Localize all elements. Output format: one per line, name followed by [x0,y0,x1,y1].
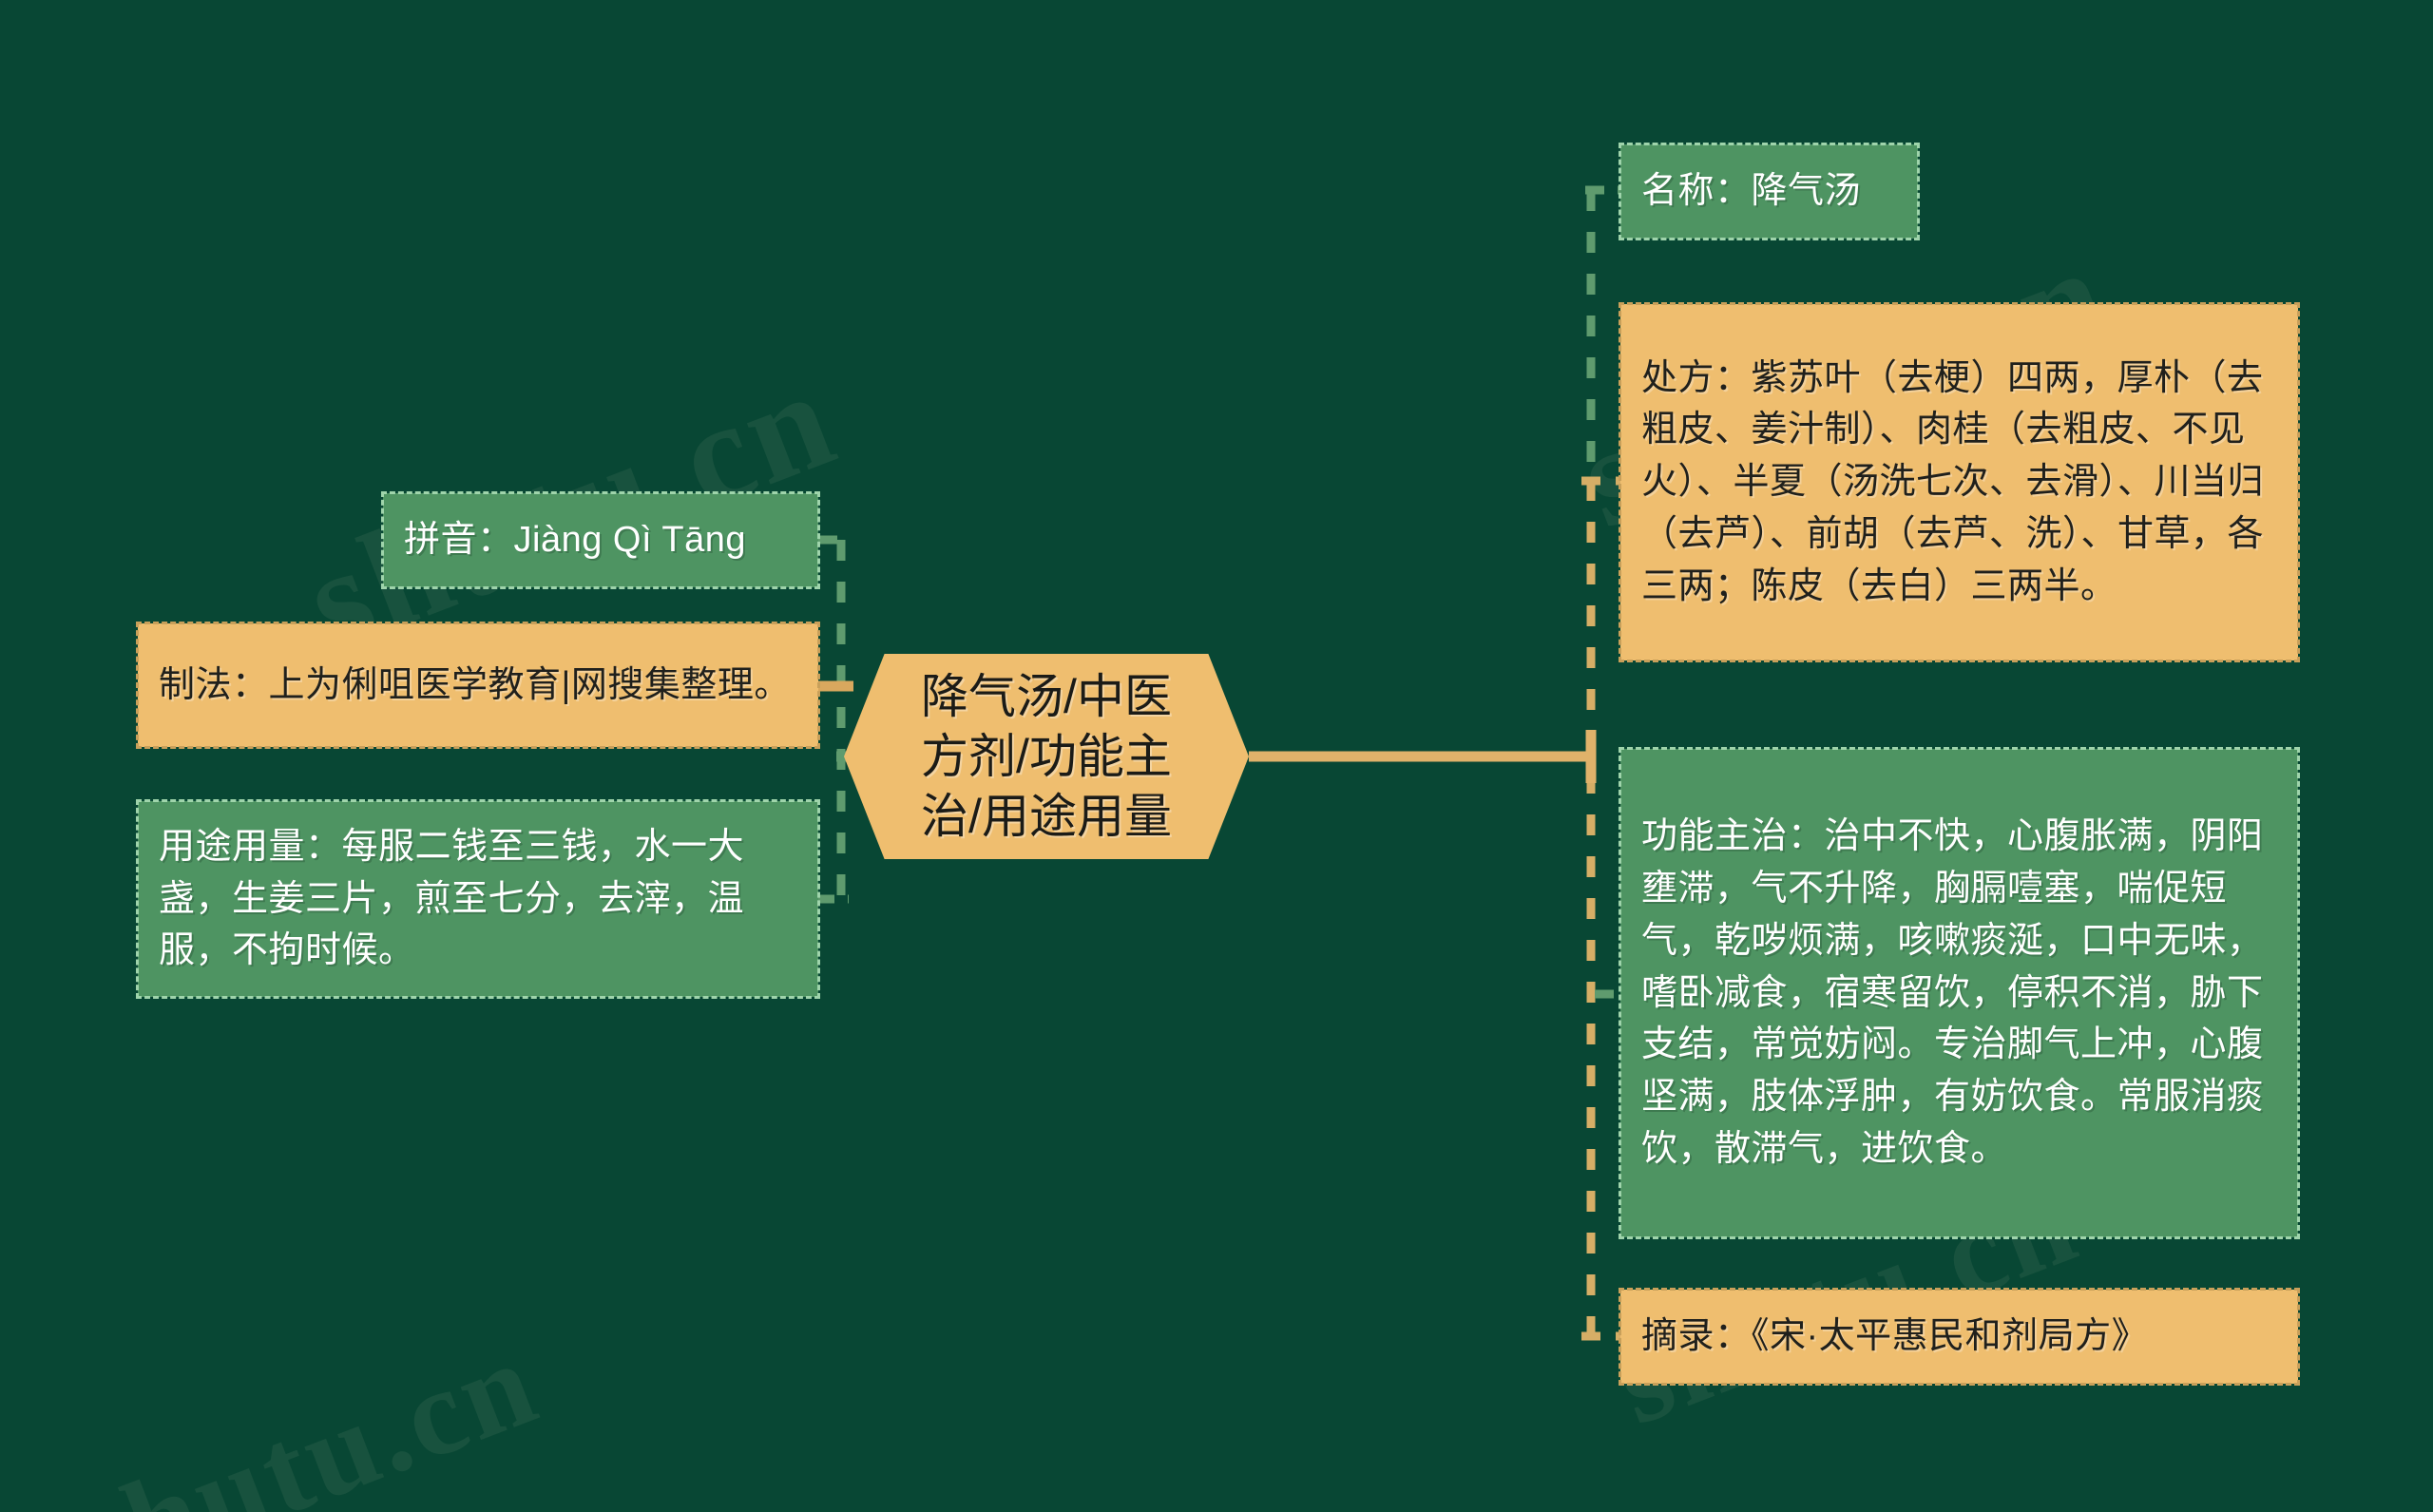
node-indications-label: 功能主治：治中不快，心腹胀满，阴阳壅滞，气不升降，胸膈噎塞，喘促短气，乾哕烦满，… [1641,811,2277,1175]
node-usage-dosage-label: 用途用量：每服二钱至三钱，水一大盏，生姜三片，煎至七分，去滓，温服，不拘时候。 [159,821,797,977]
node-formula-name[interactable]: 名称：降气汤 [1620,144,1918,239]
node-pinyin[interactable]: 拼音：Jiàng Qì Tāng [383,493,818,587]
node-source-reference[interactable]: 摘录：《宋·太平惠民和剂局方》 [1620,1290,2298,1384]
watermark-text: shutu.cn [57,1311,556,1512]
center-node-label: 降气汤/中医方剂/功能主治/用途用量 [910,667,1182,847]
node-prescription-label: 处方：紫苏叶（去梗）四两，厚朴（去粗皮、姜汁制）、肉桂（去粗皮、不见火）、半夏（… [1641,353,2277,613]
center-node[interactable]: 降气汤/中医方剂/功能主治/用途用量 [844,654,1249,859]
node-preparation-method[interactable]: 制法：上为俐咀医学教育|网搜集整理。 [138,623,818,747]
node-preparation-method-label: 制法：上为俐咀医学教育|网搜集整理。 [159,660,791,712]
node-prescription[interactable]: 处方：紫苏叶（去梗）四两，厚朴（去粗皮、姜汁制）、肉桂（去粗皮、不见火）、半夏（… [1620,304,2298,660]
node-formula-name-label: 名称：降气汤 [1641,165,1861,218]
node-pinyin-label: 拼音：Jiàng Qì Tāng [404,514,746,566]
node-usage-dosage[interactable]: 用途用量：每服二钱至三钱，水一大盏，生姜三片，煎至七分，去滓，温服，不拘时候。 [138,801,818,997]
mindmap-canvas: shutu.cn shutu.cn shutu.cn shutu.cn [0,0,2433,1512]
node-source-reference-label: 摘录：《宋·太平惠民和剂局方》 [1641,1311,2148,1363]
node-indications[interactable]: 功能主治：治中不快，心腹胀满，阴阳壅滞，气不升降，胸膈噎塞，喘促短气，乾哕烦满，… [1620,749,2298,1237]
